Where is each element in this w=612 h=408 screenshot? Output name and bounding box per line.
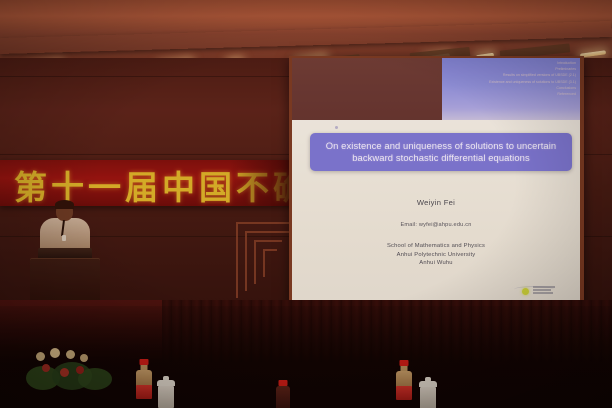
bottle-body: [276, 386, 290, 408]
slide-affiliation: School of Mathematics and Physics Anhui …: [292, 242, 580, 268]
bottle-label: [396, 386, 412, 400]
speaker-hair: [55, 200, 74, 209]
affiliation-line: School of Mathematics and Physics: [292, 242, 580, 251]
projector-spill-left: [292, 58, 442, 120]
conference-photo: 第十一届中国不确定 Introduction Preliminaries Res…: [0, 0, 612, 408]
slide-outline-nav: Introduction Preliminaries Results on si…: [428, 60, 580, 97]
bottle-label: [136, 385, 152, 399]
outline-item: Referenced: [428, 91, 576, 97]
water-bottle: [396, 360, 412, 408]
name-badge: [62, 235, 66, 241]
cup-body: [420, 387, 436, 408]
cup-body: [158, 386, 174, 408]
flower-arrangement: [22, 348, 118, 394]
affiliation-line: Anhui Polytechnic University: [292, 251, 580, 260]
water-bottle: [136, 359, 152, 408]
slide-author: Weiyin Fei: [292, 198, 580, 207]
dark-bottle: [276, 380, 290, 408]
logo-dot-icon: [522, 288, 529, 295]
projection-screen: Introduction Preliminaries Results on si…: [292, 58, 580, 312]
university-logo: [516, 285, 572, 298]
logo-text-lines-icon: [533, 286, 555, 295]
slide-bullet-dot: [335, 126, 338, 129]
tea-cup: [157, 380, 175, 408]
podium-area: [18, 196, 110, 316]
slide-email: Email: wyfei@ahpu.edu.cn: [292, 222, 580, 228]
affiliation-line: Anhui Wuhu: [292, 259, 580, 268]
lectern: [30, 258, 100, 302]
slide-content-area: On existence and uniqueness of solutions…: [292, 120, 580, 312]
page-title: On existence and uniqueness of solutions…: [316, 140, 566, 163]
tea-cup: [419, 381, 437, 408]
slide-title-box: On existence and uniqueness of solutions…: [310, 133, 572, 171]
